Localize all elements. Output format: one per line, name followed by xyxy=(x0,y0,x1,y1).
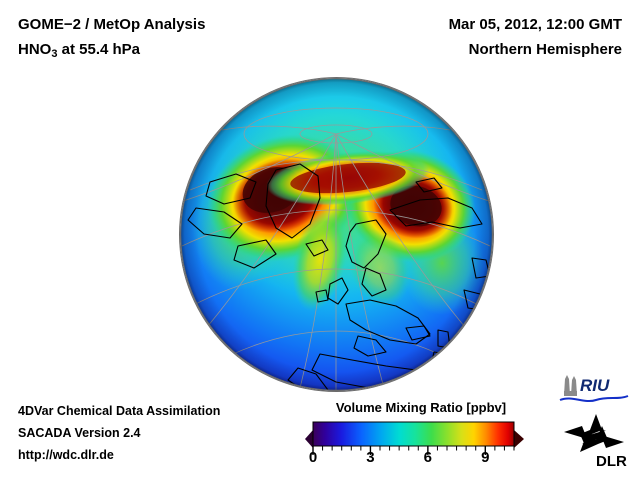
colorbar-tick-label: 6 xyxy=(424,449,432,466)
dlr-mark-icon xyxy=(564,414,624,452)
colorbar-tick-label: 0 xyxy=(309,449,317,466)
visualization-page: GOME−2 / MetOp Analysis HNO3 at 55.4 hPa… xyxy=(0,0,640,480)
colorbar-tick-label: 3 xyxy=(366,449,374,466)
riu-wave xyxy=(560,396,628,401)
riu-wordmark: RIU xyxy=(580,376,610,395)
timestamp-label: Mar 05, 2012, 12:00 GMT xyxy=(449,12,622,37)
globe-map xyxy=(180,78,493,391)
colorbar-left-arrow xyxy=(305,430,313,448)
footer-text: 4DVar Chemical Data Assimilation SACADA … xyxy=(18,400,220,466)
colorbar-right-arrow xyxy=(514,430,524,448)
colorbar-tick-labels: 0369 xyxy=(305,449,530,471)
pressure-level: at 55.4 hPa xyxy=(57,41,140,58)
globe-svg xyxy=(180,78,493,391)
species-level-title: HNO3 at 55.4 hPa xyxy=(18,37,205,67)
species-name: HNO xyxy=(18,41,51,58)
header-left: GOME−2 / MetOp Analysis HNO3 at 55.4 hPa xyxy=(18,12,205,67)
analysis-title: GOME−2 / MetOp Analysis xyxy=(18,12,205,37)
globe-field xyxy=(180,78,493,391)
colorbar-tick-label: 9 xyxy=(481,449,489,466)
footer-line-version: SACADA Version 2.4 xyxy=(18,422,220,444)
dlr-logo: DLR xyxy=(562,412,632,470)
header-right: Mar 05, 2012, 12:00 GMT Northern Hemisph… xyxy=(449,12,622,62)
footer-line-url[interactable]: http://wdc.dlr.de xyxy=(18,444,220,466)
dlr-logo-svg: DLR xyxy=(562,412,632,470)
colorbar-title: Volume Mixing Ratio [ppbv] xyxy=(313,400,529,415)
footer-line-method: 4DVar Chemical Data Assimilation xyxy=(18,400,220,422)
riu-logo-svg: RIU xyxy=(558,373,630,405)
limb-shading xyxy=(180,78,493,391)
dlr-wordmark: DLR xyxy=(596,453,627,470)
colorbar-gradient-bar xyxy=(313,422,514,446)
region-label: Northern Hemisphere xyxy=(449,37,622,62)
cathedral-icon xyxy=(564,375,577,396)
globe-disc xyxy=(180,78,493,391)
riu-logo: RIU xyxy=(558,373,630,405)
